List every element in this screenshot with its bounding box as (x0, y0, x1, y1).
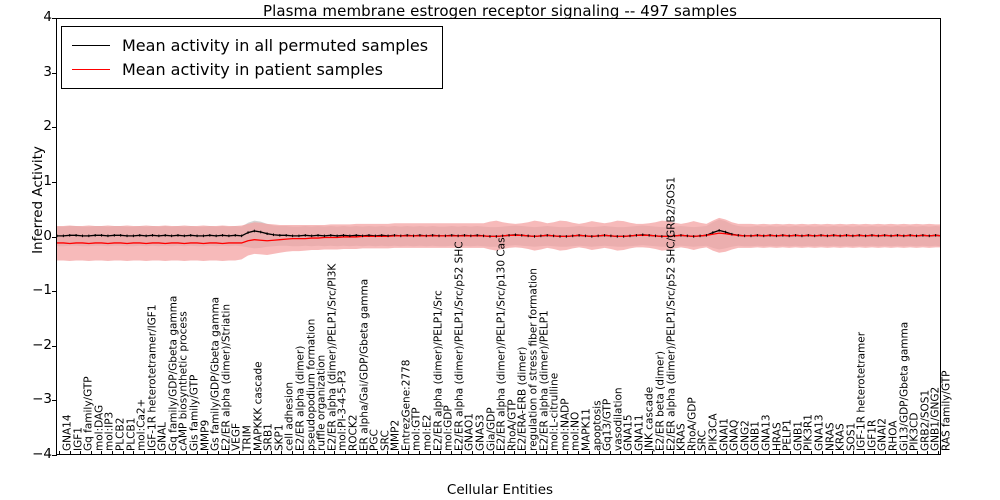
x-tick-label: JNK cascade (645, 387, 655, 451)
legend-label: Mean activity in all permuted samples (122, 36, 428, 55)
x-tick-mark (769, 451, 770, 455)
x-tick-label: mol:L-citrulline (550, 373, 560, 451)
x-tick-mark (461, 451, 462, 455)
x-tick-mark (250, 451, 251, 455)
x-tick-mark (864, 451, 865, 455)
x-tick-mark (567, 451, 568, 455)
legend-row: Mean activity in patient samples (72, 57, 428, 81)
x-tick-label: GNA15 (624, 414, 634, 451)
x-tick-label: ruffle organization (317, 355, 327, 451)
x-tick-mark (313, 451, 314, 455)
x-tick-label: mol:NO (571, 412, 581, 451)
x-tick-mark (610, 451, 611, 455)
x-tick-mark (927, 451, 928, 455)
x-tick-mark (123, 451, 124, 455)
x-tick-mark (154, 451, 155, 455)
x-tick-label: E2/ER alpha (dimer)/PELP1/Src/p130 Cas (497, 237, 507, 451)
x-tick-mark (493, 451, 494, 455)
y-tick-label: −4 (12, 446, 52, 462)
x-tick-label: TRIM (243, 425, 253, 451)
y-tick-label: 2 (12, 118, 52, 134)
x-tick-mark (790, 451, 791, 455)
x-tick-mark (101, 451, 102, 455)
x-tick-mark (822, 451, 823, 455)
x-tick-mark (504, 451, 505, 455)
x-tick-mark (673, 451, 674, 455)
x-tick-mark (641, 451, 642, 455)
y-tick-label: 1 (12, 173, 52, 189)
x-tick-mark (133, 451, 134, 455)
x-tick-mark (800, 451, 801, 455)
y-tick-label: −3 (12, 391, 52, 407)
x-tick-mark (324, 451, 325, 455)
x-tick-mark (271, 451, 272, 455)
x-tick-label: E2/ER alpha (dimer)/PELP1/Src/p52 SHC/GR… (666, 177, 676, 451)
x-tick-mark (514, 451, 515, 455)
x-tick-label: GNB1 (751, 421, 761, 451)
x-tick-mark (779, 451, 780, 455)
x-tick-label: NRAS (825, 422, 835, 451)
x-tick-mark (408, 451, 409, 455)
x-tick-mark (80, 451, 81, 455)
x-tick-mark (197, 451, 198, 455)
legend-swatch (72, 69, 110, 70)
y-tick-label: 4 (12, 9, 52, 25)
x-tick-mark (218, 451, 219, 455)
x-tick-label: PIK3CD (910, 413, 920, 451)
x-tick-mark (430, 451, 431, 455)
x-tick-mark (599, 451, 600, 455)
x-tick-mark (589, 451, 590, 455)
x-tick-mark (419, 451, 420, 455)
x-tick-label: GNAO1 (465, 413, 475, 451)
x-tick-mark (843, 451, 844, 455)
x-tick-mark (91, 451, 92, 455)
x-tick-mark (758, 451, 759, 455)
x-tick-mark (663, 451, 664, 455)
x-tick-mark (175, 451, 176, 455)
chart-figure: Plasma membrane estrogen receptor signal… (0, 0, 1000, 500)
x-tick-label: RAS family/GTP (942, 370, 952, 451)
x-tick-mark (652, 451, 653, 455)
x-tick-mark (938, 451, 939, 455)
x-tick-label: ER alpha/Gai/GDP/Gbeta gamma (359, 279, 369, 451)
x-tick-label: mol:GTP (412, 407, 422, 451)
x-tick-mark (906, 451, 907, 455)
x-tick-mark (112, 451, 113, 455)
x-tick-mark (483, 451, 484, 455)
x-tick-mark (684, 451, 685, 455)
x-tick-mark (281, 451, 282, 455)
legend-label: Mean activity in patient samples (122, 60, 383, 79)
x-tick-label: GNA13 (815, 414, 825, 451)
x-tick-label: ROCK2 (349, 415, 359, 451)
x-tick-mark (59, 451, 60, 455)
x-tick-label: Gq family/GTP (84, 376, 94, 451)
x-tick-mark (440, 451, 441, 455)
x-tick-mark (144, 451, 145, 455)
x-tick-label: cell adhesion (285, 382, 295, 451)
x-tick-mark (186, 451, 187, 455)
x-tick-mark (303, 451, 304, 455)
x-tick-mark (716, 451, 717, 455)
y-tick-mark (52, 455, 57, 456)
y-tick-label: −2 (12, 337, 52, 353)
x-tick-label: GNA13 (762, 414, 772, 451)
x-tick-label: KRAS (677, 423, 687, 451)
x-tick-label: KRAS (836, 423, 846, 451)
x-tick-label: VEGF (232, 423, 242, 451)
x-tick-mark (334, 451, 335, 455)
x-tick-label: PIK3R1 (804, 414, 814, 451)
x-tick-label: GNAQ (730, 420, 740, 451)
x-tick-label: SRB1 (264, 423, 274, 451)
x-tick-mark (737, 451, 738, 455)
x-tick-mark (228, 451, 229, 455)
x-tick-mark (366, 451, 367, 455)
y-tick-label: −1 (12, 282, 52, 298)
x-tick-mark (546, 451, 547, 455)
x-tick-label: cAMP biosynthetic process (179, 311, 189, 451)
x-tick-mark (387, 451, 388, 455)
x-tick-mark (239, 451, 240, 455)
x-tick-label: GNAI2 (878, 418, 888, 451)
y-tick-label: 0 (12, 228, 52, 244)
x-tick-label: RHOA (889, 421, 899, 451)
x-tick-label: GNAL (158, 422, 168, 451)
x-tick-mark (832, 451, 833, 455)
x-tick-mark (853, 451, 854, 455)
x-tick-label: E2/ER alpha (dimer) (296, 346, 306, 451)
x-tick-label: E2/ER beta (dimer) (656, 351, 666, 451)
x-tick-label: PGC (370, 429, 380, 451)
x-tick-mark (345, 451, 346, 455)
x-tick-label: PLCB2 (116, 418, 126, 451)
x-tick-label: mol:E2 (423, 415, 433, 451)
x-tick-mark (874, 451, 875, 455)
x-tick-mark (726, 451, 727, 455)
x-tick-label: IGF-1R heterotetramer (857, 332, 867, 451)
x-tick-mark (811, 451, 812, 455)
x-tick-mark (292, 451, 293, 455)
x-tick-label: SRC (698, 430, 708, 451)
x-tick-label: PELP1 (783, 419, 793, 451)
x-tick-mark (260, 451, 261, 455)
x-tick-mark (694, 451, 695, 455)
x-tick-mark (631, 451, 632, 455)
x-tick-label: Gq13/GTP (603, 399, 613, 451)
x-tick-mark (398, 451, 399, 455)
x-tick-label: regulation of stress fiber formation (529, 268, 539, 451)
x-tick-mark (620, 451, 621, 455)
x-tick-mark (557, 451, 558, 455)
x-tick-label: MAPK11 (582, 408, 592, 451)
x-tick-label: mol:GDP (444, 405, 454, 451)
x-tick-label: GNAS3 (476, 414, 486, 451)
x-tick-mark (472, 451, 473, 455)
y-tick-label: 3 (12, 64, 52, 80)
x-tick-mark (578, 451, 579, 455)
x-tick-mark (747, 451, 748, 455)
x-tick-label: mol:Ca2+ (137, 399, 147, 451)
x-tick-label: E2/ERA-ERB (dimer) (518, 347, 528, 451)
x-tick-label: GNA14 (63, 414, 73, 451)
x-tick-mark (165, 451, 166, 455)
x-tick-mark (70, 451, 71, 455)
x-tick-mark (885, 451, 886, 455)
x-tick-label: mol:PI-3-4-5-P3 (338, 370, 348, 451)
x-tick-label: GNB1/GNG2 (931, 387, 941, 451)
x-tick-mark (451, 451, 452, 455)
x-tick-label: mol:IP3 (105, 412, 115, 451)
x-tick-mark (356, 451, 357, 455)
x-axis-label: Cellular Entities (0, 482, 1000, 498)
x-tick-label: PIK3CA (709, 413, 719, 451)
chart-legend: Mean activity in all permuted samplesMea… (61, 26, 443, 89)
legend-swatch (72, 45, 110, 46)
x-tick-mark (377, 451, 378, 455)
x-tick-mark (917, 451, 918, 455)
x-tick-mark (207, 451, 208, 455)
x-tick-label: Gs family/GDP/Gbeta gamma (211, 297, 221, 451)
x-tick-mark (525, 451, 526, 455)
legend-row: Mean activity in all permuted samples (72, 33, 428, 57)
x-tick-mark (896, 451, 897, 455)
x-tick-label: Gis family/GTP (190, 375, 200, 451)
x-tick-mark (705, 451, 706, 455)
x-tick-label: MMP2 (391, 420, 401, 451)
x-tick-mark (536, 451, 537, 455)
